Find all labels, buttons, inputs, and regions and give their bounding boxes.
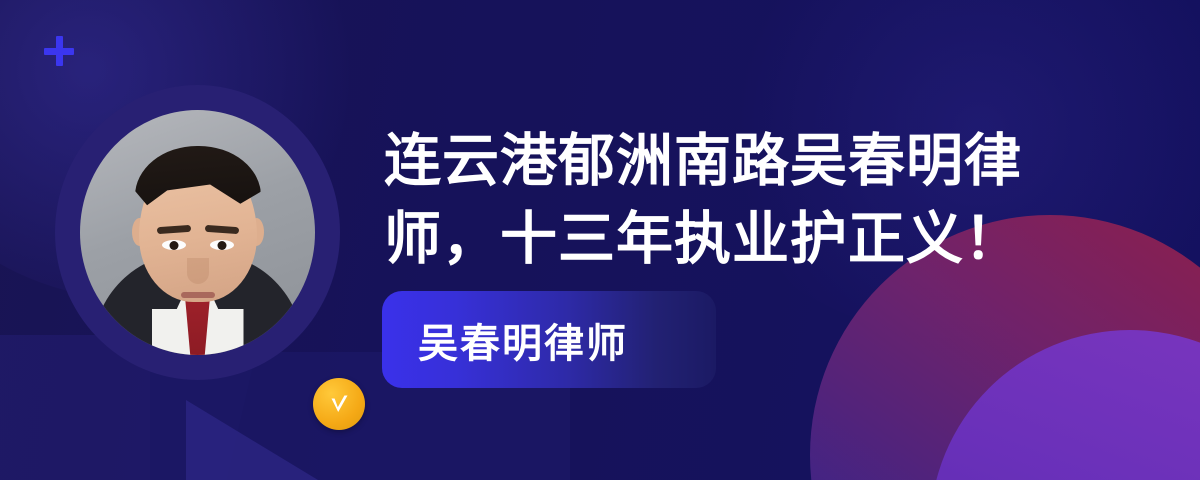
lawyer-name-label: 吴春明律师 bbox=[418, 311, 628, 369]
portrait-eye-left bbox=[162, 240, 186, 250]
avatar bbox=[55, 85, 340, 380]
portrait-mouth bbox=[181, 292, 215, 298]
portrait-eye-right bbox=[210, 240, 234, 250]
verified-check-icon bbox=[313, 378, 365, 430]
page-title: 连云港郁洲南路吴春明律 师，十三年执业护正义！ bbox=[384, 122, 1064, 278]
lawyer-name-button[interactable]: 吴春明律师 bbox=[382, 291, 716, 388]
plus-icon bbox=[44, 36, 74, 66]
promo-banner: 连云港郁洲南路吴春明律 师，十三年执业护正义！ 吴春明律师 bbox=[0, 0, 1200, 480]
avatar-photo bbox=[80, 110, 315, 355]
decor-triangle bbox=[186, 400, 318, 480]
portrait-nose bbox=[187, 258, 209, 284]
